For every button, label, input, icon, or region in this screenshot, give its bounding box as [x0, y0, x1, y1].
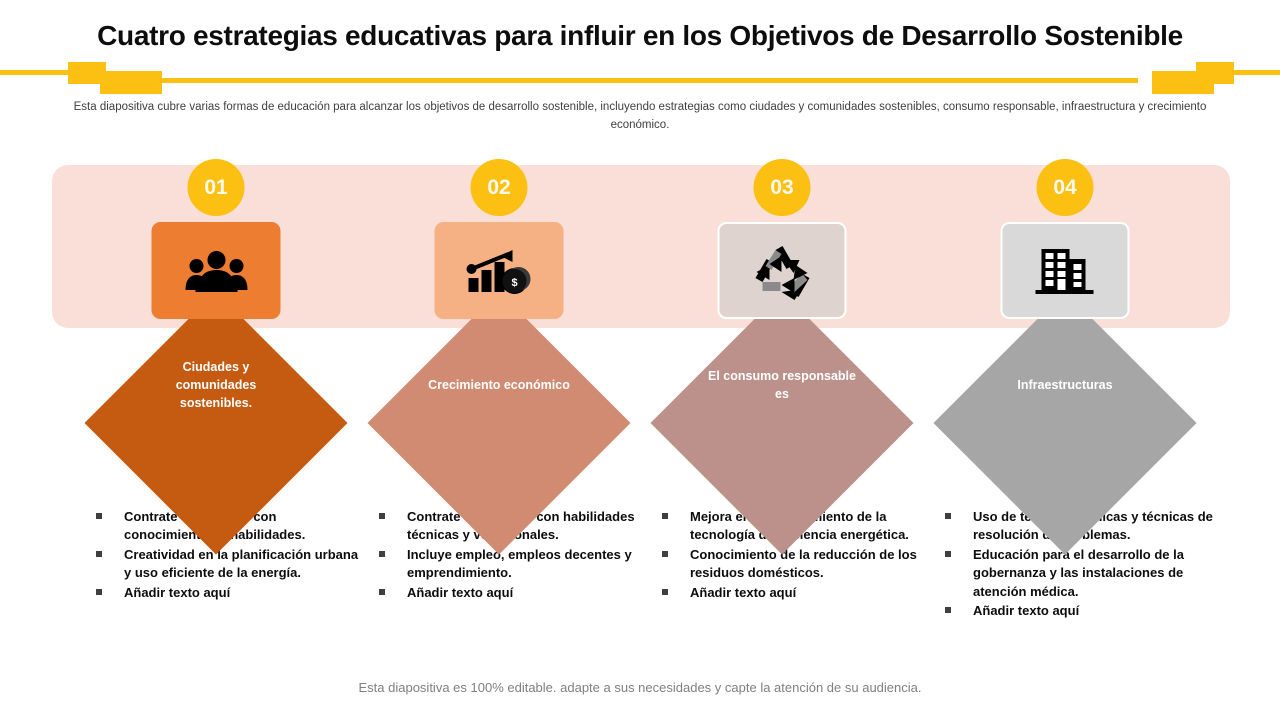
divider-line-right	[1196, 70, 1280, 75]
bullet-square-icon	[379, 589, 385, 595]
bullet-square-icon	[945, 607, 951, 613]
slide-subtitle: Esta diapositiva cubre varias formas de …	[70, 99, 1210, 135]
bullet-square-icon	[379, 513, 385, 519]
icon-card-1	[152, 222, 281, 319]
list-item: Añadir texto aquí	[375, 584, 651, 602]
number-badge-02: 02	[471, 159, 528, 216]
icon-card-4	[1001, 222, 1130, 319]
number-badge-03: 03	[754, 159, 811, 216]
icon-card-2: $	[435, 222, 564, 319]
bullet-text: Añadir texto aquí	[973, 603, 1079, 618]
page-title: Cuatro estrategias educativas para influ…	[0, 20, 1280, 52]
diamond-shape-4: Infraestructuras	[972, 330, 1158, 516]
list-item: Conocimiento de la reducción de los resi…	[658, 546, 934, 583]
number-badge-01: 01	[188, 159, 245, 216]
diamond-shape-1: Ciudades y comunidades sostenibles.	[123, 330, 309, 516]
bullet-square-icon	[662, 513, 668, 519]
diamond-label-3: El consumo responsable es	[689, 292, 875, 478]
bullet-text: Educación para el desarrollo de la gober…	[973, 547, 1184, 599]
bullet-square-icon	[96, 589, 102, 595]
bullet-square-icon	[662, 551, 668, 557]
bullet-text: Añadir texto aquí	[124, 585, 230, 600]
bullet-text: Creatividad en la planificación urbana y…	[124, 547, 358, 580]
diamond-label-2: Crecimiento económico	[406, 292, 592, 478]
list-item: Incluye empleo, empleos decentes y empre…	[375, 546, 651, 583]
bullet-text: Añadir texto aquí	[407, 585, 513, 600]
number-badge-04: 04	[1037, 159, 1094, 216]
slide-canvas: Cuatro estrategias educativas para influ…	[0, 0, 1280, 720]
slide-footer-note: Esta diapositiva es 100% editable. adapt…	[0, 680, 1280, 695]
building-icon	[1035, 247, 1095, 295]
list-item: Añadir texto aquí	[92, 584, 368, 602]
people-group-icon	[185, 250, 247, 292]
bullet-square-icon	[379, 551, 385, 557]
bullet-square-icon	[662, 589, 668, 595]
bullet-text: Incluye empleo, empleos decentes y empre…	[407, 547, 632, 580]
icon-card-3	[718, 222, 847, 319]
bullet-square-icon	[96, 513, 102, 519]
growth-chart-money-icon: $	[466, 248, 532, 294]
recycle-icon	[751, 242, 813, 300]
bullet-square-icon	[96, 551, 102, 557]
bullet-text: Añadir texto aquí	[690, 585, 796, 600]
list-item: Creatividad en la planificación urbana y…	[92, 546, 368, 583]
diamond-label-4: Infraestructuras	[972, 292, 1158, 478]
diamond-shape-3: El consumo responsable es	[689, 330, 875, 516]
svg-text:$: $	[511, 277, 517, 289]
list-item: Educación para el desarrollo de la gober…	[941, 546, 1217, 601]
divider-line-middle	[148, 78, 1138, 83]
list-item: Añadir texto aquí	[658, 584, 934, 602]
diamond-label-1: Ciudades y comunidades sostenibles.	[123, 292, 309, 478]
decorative-divider	[0, 58, 1280, 90]
list-item: Añadir texto aquí	[941, 602, 1217, 620]
bullet-square-icon	[945, 551, 951, 557]
bullet-text: Conocimiento de la reducción de los resi…	[690, 547, 917, 580]
bullet-square-icon	[945, 513, 951, 519]
diamond-shape-2: Crecimiento económico	[406, 330, 592, 516]
